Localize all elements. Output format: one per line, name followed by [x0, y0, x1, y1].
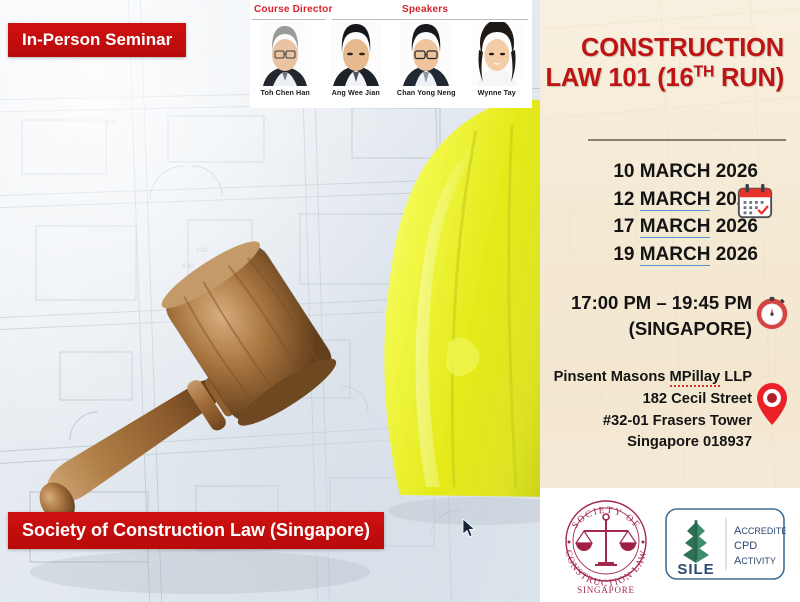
date-day: 17	[613, 216, 639, 237]
date-month: MARCH	[640, 189, 711, 211]
scl-subtitle: SINGAPORE	[577, 585, 635, 595]
details-panel: CONSTRUCTION LAW 101 (16TH RUN) 10 MARCH…	[540, 0, 800, 488]
person-name: Ang Wee Jian	[332, 88, 380, 97]
venue-line-3: #32-01 Frasers Tower	[540, 411, 752, 433]
course-director-heading: Course Director	[254, 4, 333, 15]
venue-firm-post: LLP	[720, 369, 752, 385]
title-line-1: CONSTRUCTION	[540, 34, 784, 64]
sile-text-line-3: ACTIVITY	[734, 555, 776, 567]
venue-line-2: 182 Cecil Street	[540, 389, 752, 411]
venue-line-1: Pinsent Masons MPillay LLP	[540, 367, 752, 389]
person-card: Wynne Tay	[462, 22, 533, 108]
headshot-row: Toh Chen Han	[250, 22, 532, 108]
title-divider	[588, 139, 786, 141]
date-day: 12	[613, 189, 639, 210]
person-name: Wynne Tay	[478, 88, 516, 97]
venue-line-4: Singapore 018937	[540, 432, 752, 454]
headshot-photo	[330, 22, 382, 86]
person-card: Ang Wee Jian	[321, 22, 392, 108]
stopwatch-icon	[754, 294, 790, 330]
speakers-heading: Speakers	[402, 4, 448, 15]
dates-list: 10 MARCH 2026 12 MARCH 2026 17 MARCH 202…	[540, 158, 768, 268]
date-day: 10	[613, 161, 639, 182]
society-of-construction-law-logo: SOCIETY OF CONSTRUCTION LAW SINGAPORE	[554, 493, 658, 597]
time-zone: (SINGAPORE)	[540, 316, 752, 342]
sile-wordmark: SILE	[677, 561, 714, 578]
date-month: MARCH	[640, 244, 711, 266]
person-card: Chan Yong Neng	[391, 22, 462, 108]
seminar-poster: 4.40 2.33 8.40 16.8 4.10	[0, 0, 800, 602]
date-month: MARCH	[640, 216, 711, 238]
date-day: 19	[613, 244, 639, 265]
sile-accredited-badge: SILE ACCREDITED CPD ACTIVITY	[664, 506, 786, 584]
sile-text-line-2: CPD	[734, 540, 757, 552]
page-title: CONSTRUCTION LAW 101 (16TH RUN)	[540, 34, 792, 94]
date-item: 12 MARCH 2026	[540, 186, 758, 214]
course-director-rule	[252, 19, 326, 20]
headshot-photo	[471, 22, 523, 86]
person-name: Chan Yong Neng	[397, 88, 456, 97]
title-line-2-post: RUN)	[714, 64, 784, 92]
venue-firm-mark: MPillay	[670, 369, 721, 387]
organisation-label: Society of Construction Law (Singapore)	[22, 520, 370, 541]
speakers-rule	[332, 19, 528, 20]
date-item: 19 MARCH 2026	[540, 241, 758, 269]
calendar-icon	[736, 182, 774, 220]
date-year: 2026	[710, 244, 758, 265]
date-item: 17 MARCH 2026	[540, 213, 758, 241]
person-name: Toh Chen Han	[261, 88, 310, 97]
date-year: 2026	[710, 161, 758, 182]
mouse-cursor	[462, 518, 476, 538]
speakers-strip-header: Course Director Speakers	[250, 0, 532, 22]
in-person-seminar-label: In-Person Seminar	[22, 30, 172, 50]
title-ordinal-suffix: TH	[694, 63, 715, 80]
person-card: Toh Chen Han	[250, 22, 321, 108]
headshot-photo	[400, 22, 452, 86]
logos-panel: SOCIETY OF CONSTRUCTION LAW SINGAPORE	[540, 488, 800, 602]
venue-block: Pinsent Masons MPillay LLP 182 Cecil Str…	[540, 367, 758, 454]
map-pin-icon	[756, 382, 788, 426]
title-line-2-pre: LAW 101 (16	[545, 64, 693, 92]
venue-firm-pre: Pinsent Masons	[554, 369, 670, 385]
date-item: 10 MARCH 2026	[540, 158, 758, 186]
in-person-seminar-badge: In-Person Seminar	[8, 23, 186, 57]
time-range: 17:00 PM – 19:45 PM	[540, 290, 752, 316]
time-block: 17:00 PM – 19:45 PM (SINGAPORE)	[540, 290, 758, 343]
date-month: MARCH	[640, 161, 711, 182]
title-line-2: LAW 101 (16TH RUN)	[540, 64, 784, 94]
headshot-photo	[259, 22, 311, 86]
organisation-badge: Society of Construction Law (Singapore)	[8, 512, 384, 549]
speakers-strip: Course Director Speakers	[250, 0, 532, 108]
hard-hat-image	[330, 95, 545, 525]
sile-text-line-1: ACCREDITED	[734, 525, 786, 537]
